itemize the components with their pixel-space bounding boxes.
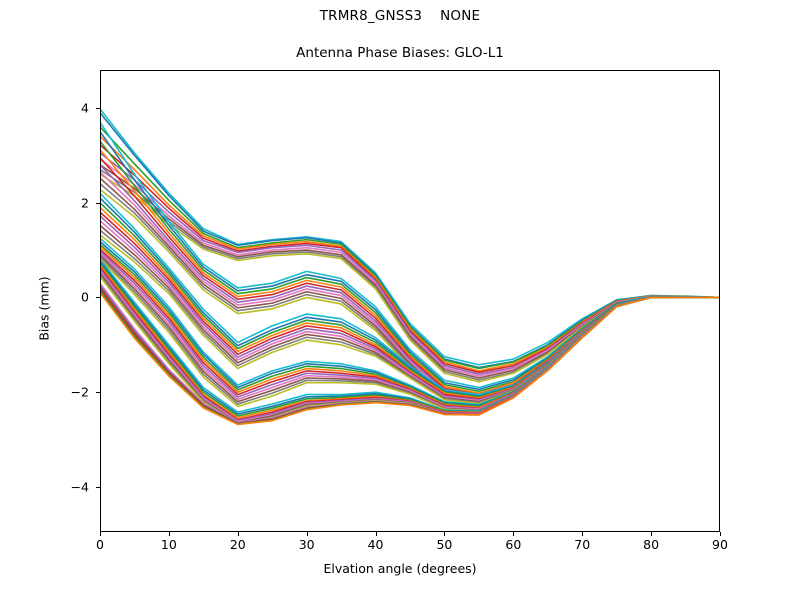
x-tick-mark xyxy=(582,532,583,536)
x-tick-mark xyxy=(307,532,308,536)
x-tick-label: 20 xyxy=(218,537,258,552)
figure-title: Antenna Phase Biases: GLO-L1 xyxy=(0,45,800,61)
line-series xyxy=(100,150,720,394)
y-tick-label: 2 xyxy=(55,195,89,210)
x-tick-mark xyxy=(100,532,101,536)
y-tick-label: 0 xyxy=(55,290,89,305)
x-tick-mark xyxy=(444,532,445,536)
y-tick-label: −4 xyxy=(55,479,89,494)
x-tick-mark xyxy=(513,532,514,536)
x-tick-mark xyxy=(169,532,170,536)
x-tick-mark xyxy=(376,532,377,536)
x-tick-label: 90 xyxy=(700,537,740,552)
figure-canvas: TRMR8_GNSS3 NONE Antenna Phase Biases: G… xyxy=(0,0,800,600)
x-tick-label: 50 xyxy=(424,537,464,552)
y-tick-label: 4 xyxy=(55,100,89,115)
x-tick-mark xyxy=(238,532,239,536)
x-tick-mark xyxy=(651,532,652,536)
x-tick-label: 0 xyxy=(80,537,120,552)
x-tick-mark xyxy=(720,532,721,536)
figure-suptitle: TRMR8_GNSS3 NONE xyxy=(0,8,800,24)
line-series-group xyxy=(100,70,720,532)
x-tick-label: 40 xyxy=(356,537,396,552)
x-tick-label: 70 xyxy=(562,537,602,552)
x-tick-label: 60 xyxy=(493,537,533,552)
y-axis-label: Bias (mm) xyxy=(37,229,52,389)
x-tick-label: 10 xyxy=(149,537,189,552)
y-tick-label: −2 xyxy=(55,385,89,400)
x-tick-label: 30 xyxy=(287,537,327,552)
x-axis-label: Elvation angle (degrees) xyxy=(0,561,800,576)
x-tick-label: 80 xyxy=(631,537,671,552)
plot-area xyxy=(100,70,720,532)
